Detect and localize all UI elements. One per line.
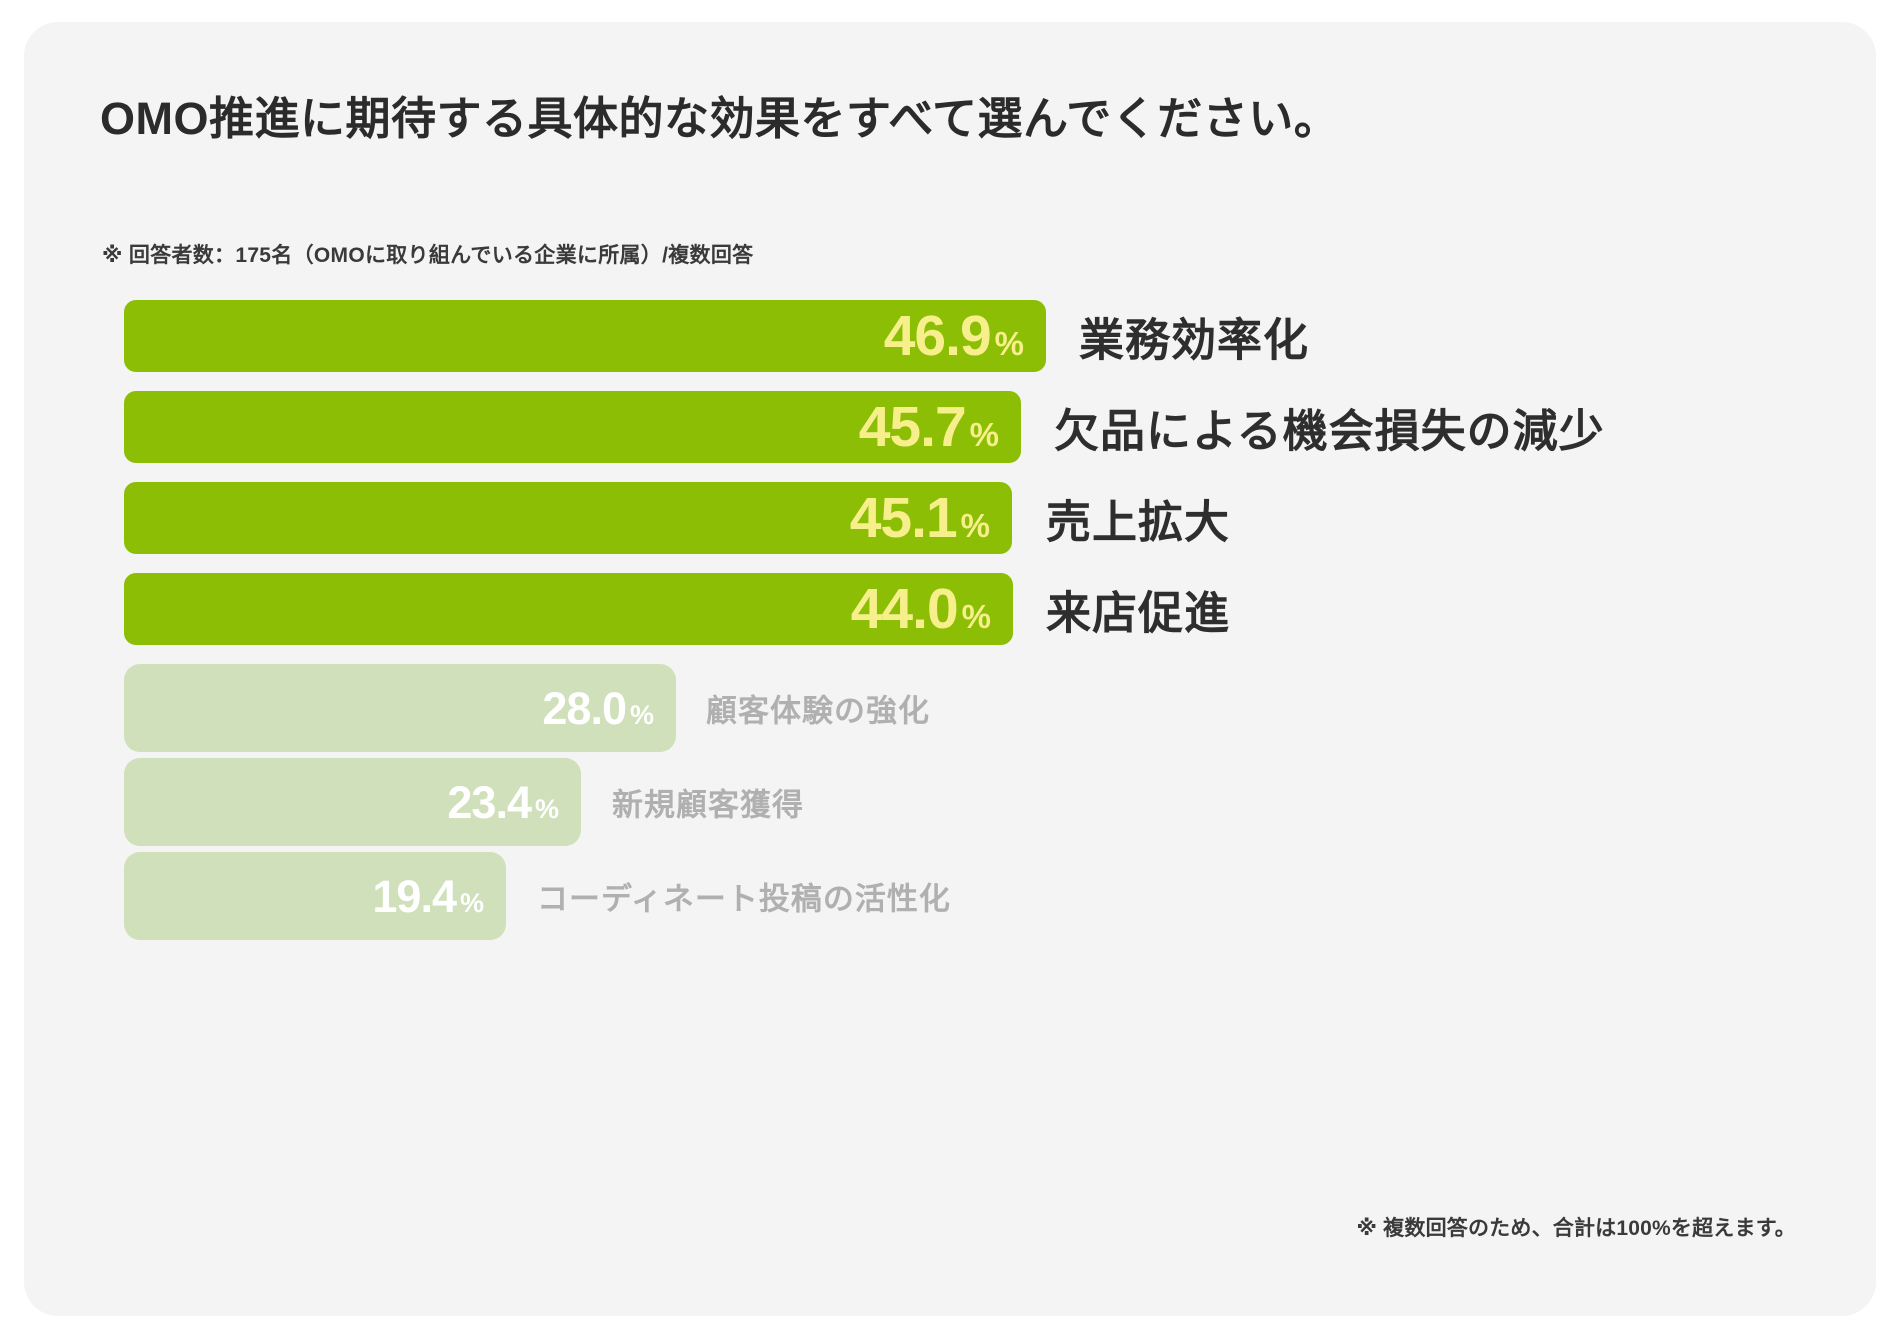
bar-fill: 19.4% — [124, 852, 506, 940]
bar-value: 23.4 — [447, 780, 531, 825]
bar-value-group: 23.4% — [447, 780, 559, 825]
bar-row: 46.9%業務効率化 — [24, 300, 1876, 372]
bar-value: 45.1 — [850, 490, 957, 547]
bar-value-group: 45.1% — [850, 490, 990, 547]
bar-row: 45.7%欠品による機会損失の減少 — [24, 391, 1876, 463]
multiple-answer-footnote: ※ 複数回答のため、合計は100%を超えます。 — [1357, 1212, 1796, 1242]
bar-label: 顧客体験の強化 — [706, 686, 930, 731]
page-title: OMO推進に期待する具体的な効果をすべて選んでください。 — [100, 92, 1339, 146]
bar-label: 売上拡大 — [1046, 486, 1230, 551]
bar-row: 28.0%顧客体験の強化 — [24, 664, 1876, 752]
bar-label: コーディネート投稿の活性化 — [537, 874, 951, 919]
bar-row: 23.4%新規顧客獲得 — [24, 758, 1876, 846]
bar-value-group: 45.7% — [859, 399, 999, 456]
bar-fill: 28.0% — [124, 664, 676, 752]
screenshot-canvas: OMO推進に期待する具体的な効果をすべて選んでください。 ※ 回答者数：175名… — [0, 0, 1900, 1338]
bar-label: 新規顧客獲得 — [612, 780, 804, 825]
bar-value-group: 46.9% — [884, 308, 1024, 365]
bar-row: 44.0%来店促進 — [24, 573, 1876, 645]
bar-label: 来店促進 — [1046, 577, 1230, 642]
bar-row: 19.4%コーディネート投稿の活性化 — [24, 852, 1876, 940]
percent-symbol: % — [995, 327, 1024, 360]
survey-result-card: OMO推進に期待する具体的な効果をすべて選んでください。 ※ 回答者数：175名… — [24, 22, 1876, 1316]
bar-value-group: 44.0% — [851, 581, 991, 638]
bar-fill: 45.7% — [124, 391, 1021, 463]
percent-symbol: % — [962, 600, 991, 633]
bar-fill: 44.0% — [124, 573, 1013, 645]
percent-symbol: % — [460, 890, 484, 917]
bar-value-group: 28.0% — [542, 686, 654, 731]
horizontal-bar-chart: 46.9%業務効率化45.7%欠品による機会損失の減少45.1%売上拡大44.0… — [24, 300, 1876, 946]
bar-fill: 23.4% — [124, 758, 581, 846]
bar-value: 28.0 — [542, 686, 626, 731]
percent-symbol: % — [970, 418, 999, 451]
bar-value: 19.4 — [372, 874, 456, 919]
percent-symbol: % — [630, 702, 654, 729]
bar-fill: 45.1% — [124, 482, 1012, 554]
bar-label: 業務効率化 — [1079, 304, 1309, 369]
bar-value: 44.0 — [851, 581, 958, 638]
percent-symbol: % — [535, 796, 559, 823]
bar-row: 45.1%売上拡大 — [24, 482, 1876, 554]
percent-symbol: % — [961, 509, 990, 542]
bar-label: 欠品による機会損失の減少 — [1054, 395, 1605, 460]
bar-value-group: 19.4% — [372, 874, 484, 919]
bar-fill: 46.9% — [124, 300, 1046, 372]
bar-value: 46.9 — [884, 308, 991, 365]
bar-value: 45.7 — [859, 399, 966, 456]
respondents-note: ※ 回答者数：175名（OMOに取り組んでいる企業に所属）/複数回答 — [102, 239, 753, 269]
